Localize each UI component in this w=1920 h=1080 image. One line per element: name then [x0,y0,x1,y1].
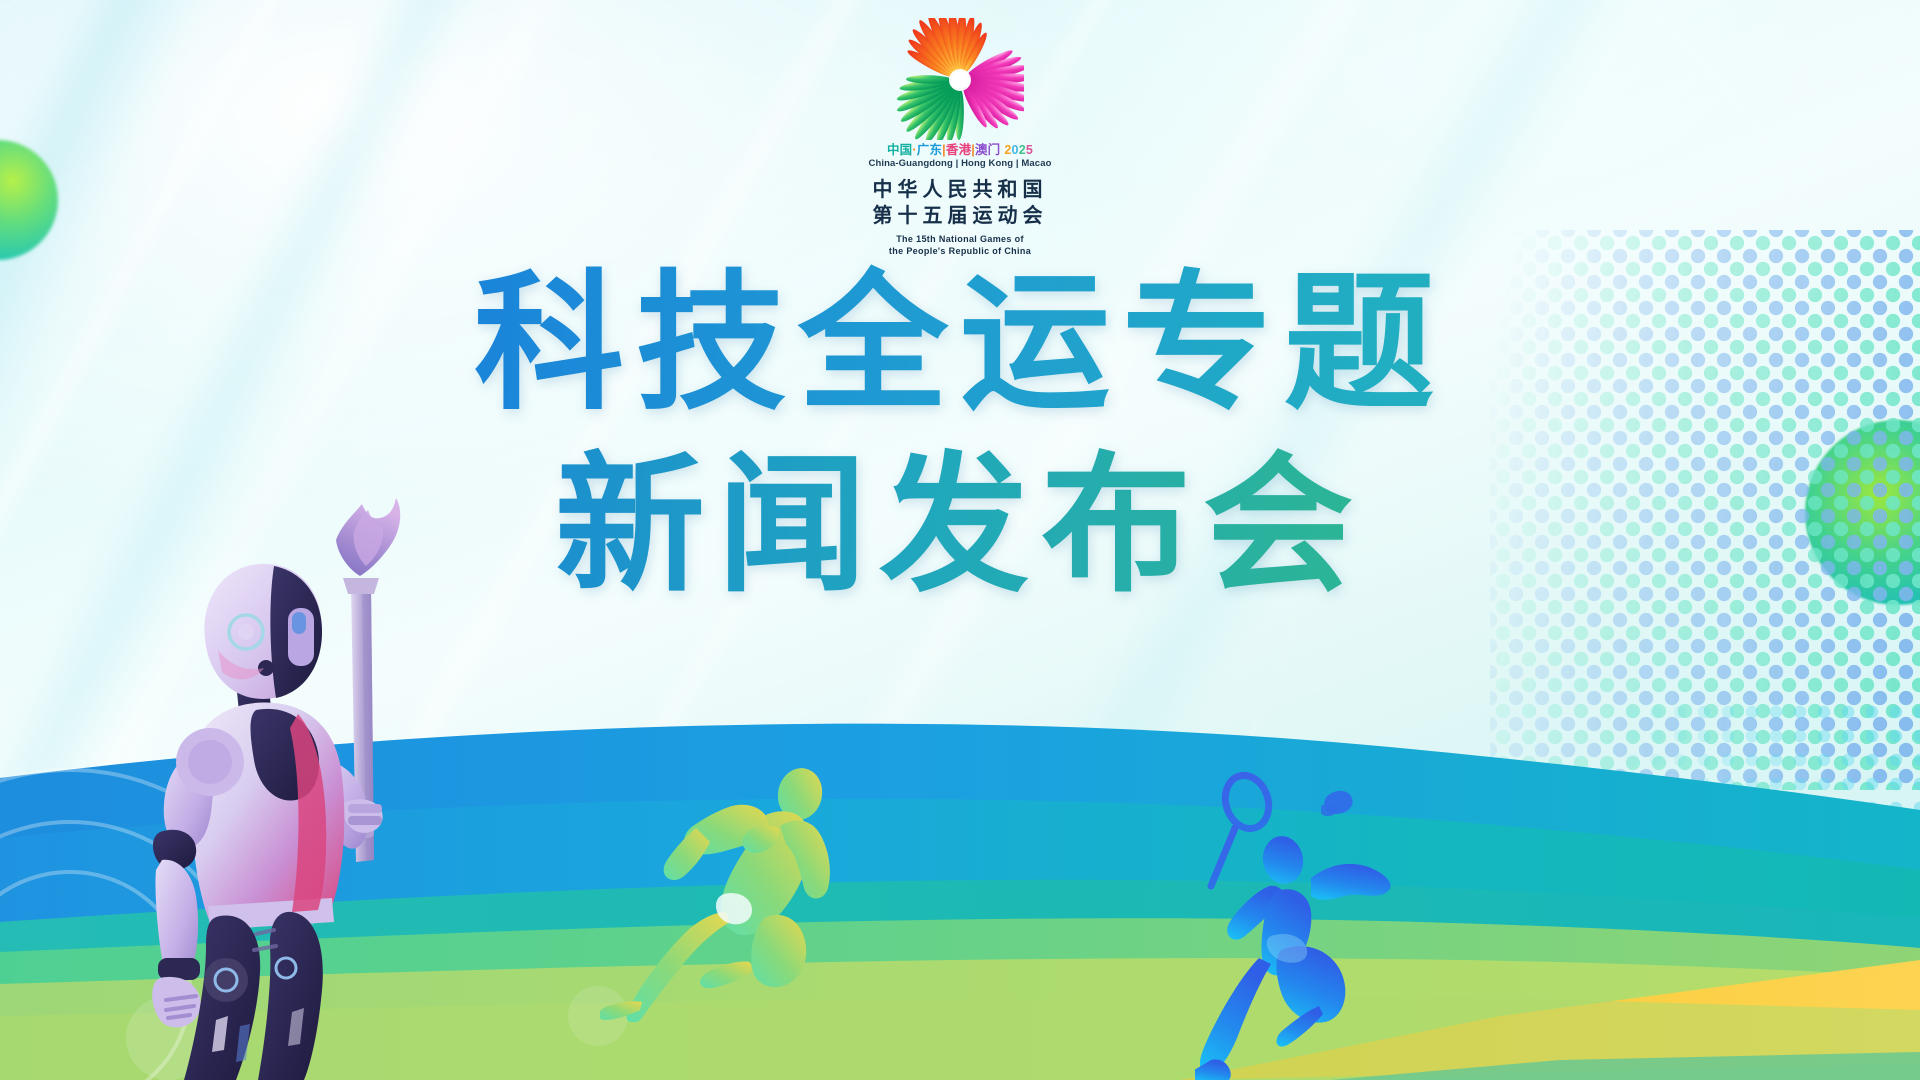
robot-legs [184,912,323,1080]
emblem-title-cn-line-1: 中华人民共和国 [830,178,1090,204]
badminton-player-silhouette [1195,760,1495,1080]
emblem-host-china: 中国 [887,143,912,157]
emblem-year-digit-2: 0 [1012,143,1019,157]
games-emblem-lockup: 中国·广东|香港|澳门2025 China-Guangdong | Hong K… [830,18,1090,257]
headline-line-2: 新闻发布会 [0,432,1920,618]
emblem-year-digit-3: 2 [1019,143,1026,157]
national-games-pinwheel-emblem-icon [896,18,1024,140]
emblem-host-cities-cn: 中国·广东|香港|澳门2025 [830,143,1090,157]
emblem-host-cities-en: China-Guangdong | Hong Kong | Macao [830,158,1090,169]
decorative-sphere-left [0,140,58,260]
emblem-host-macao: 澳门 [975,143,1000,157]
emblem-title-en: The 15th National Games of the People's … [830,233,1090,257]
poster-canvas: 中国·广东|香港|澳门2025 China-Guangdong | Hong K… [0,0,1920,1080]
emblem-host-hongkong: 香港 [946,143,971,157]
emblem-title-en-line-1: The 15th National Games of [830,233,1090,245]
emblem-year-digit-1: 2 [1004,143,1011,157]
emblem-year-digit-4: 5 [1026,143,1033,157]
emblem-host-guangdong: 广东 [917,143,942,157]
runner-silhouette [600,742,880,1022]
headline-line-1: 科技全运专题 [0,250,1920,436]
shuttlecock-icon [1321,791,1353,816]
poster-headline: 科技全运专题 新闻发布会 [0,250,1920,618]
emblem-title-en-line-2: the People's Republic of China [830,245,1090,257]
emblem-title-cn-line-2: 第十五届运动会 [830,204,1090,230]
